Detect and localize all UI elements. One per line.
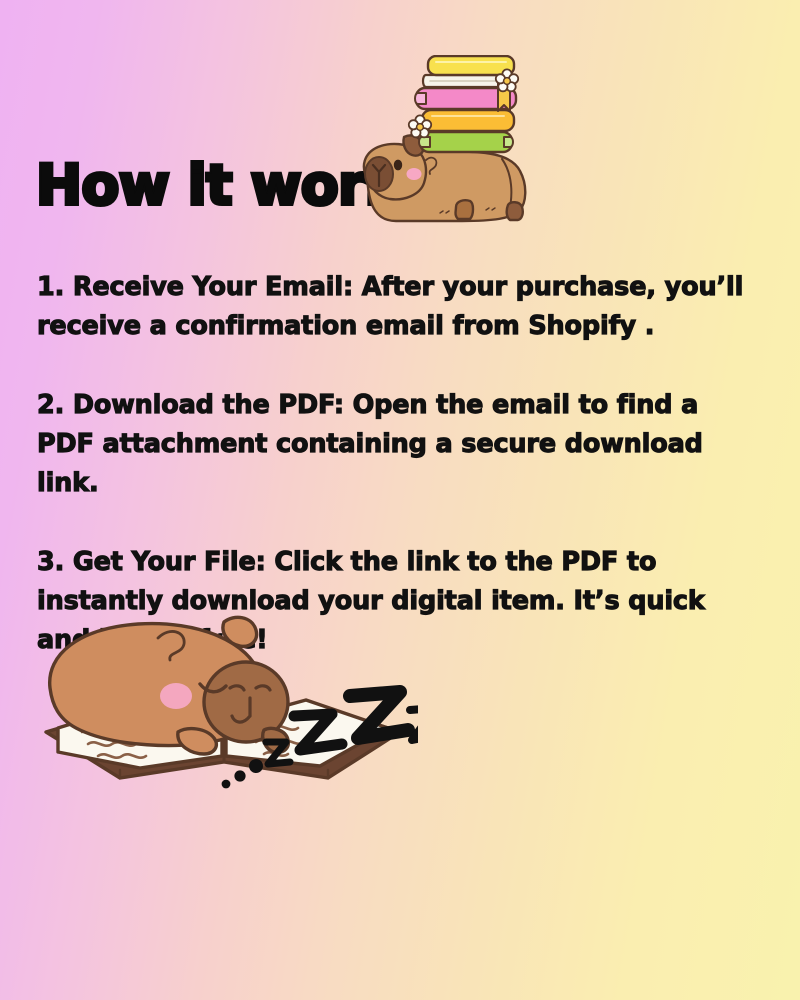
sleeping-capybara-blush xyxy=(160,683,192,709)
sleeping-capybara-illustration xyxy=(28,592,418,792)
green-book xyxy=(420,132,512,152)
sleep-dot-3 xyxy=(249,759,263,773)
step-item-1: 1. Receive Your Email: After your purcha… xyxy=(37,268,759,346)
sleeping-capybara-ear xyxy=(223,617,257,646)
sleep-dot-1 xyxy=(222,780,231,789)
step-item-2: 2. Download the PDF: Open the email to f… xyxy=(37,386,759,503)
green-book-edge xyxy=(419,137,430,147)
poster-canvas: How it works xyxy=(0,0,800,1000)
capybara-back-foot xyxy=(507,202,523,220)
pink-book-edge xyxy=(415,93,426,104)
capybara-with-book-stack-illustration xyxy=(352,55,552,240)
sleeping-capybara-svg xyxy=(28,592,418,792)
capybara-eye xyxy=(394,160,402,171)
capybara-front-foot xyxy=(456,200,474,219)
sleep-dot-2 xyxy=(234,770,245,781)
green-book-edge-right xyxy=(504,137,513,147)
yellow-book xyxy=(428,56,514,75)
capybara-blush xyxy=(407,168,422,180)
sleep-z-large xyxy=(350,692,408,738)
orange-book xyxy=(422,110,514,131)
capybara-book-stack-svg xyxy=(352,55,552,240)
